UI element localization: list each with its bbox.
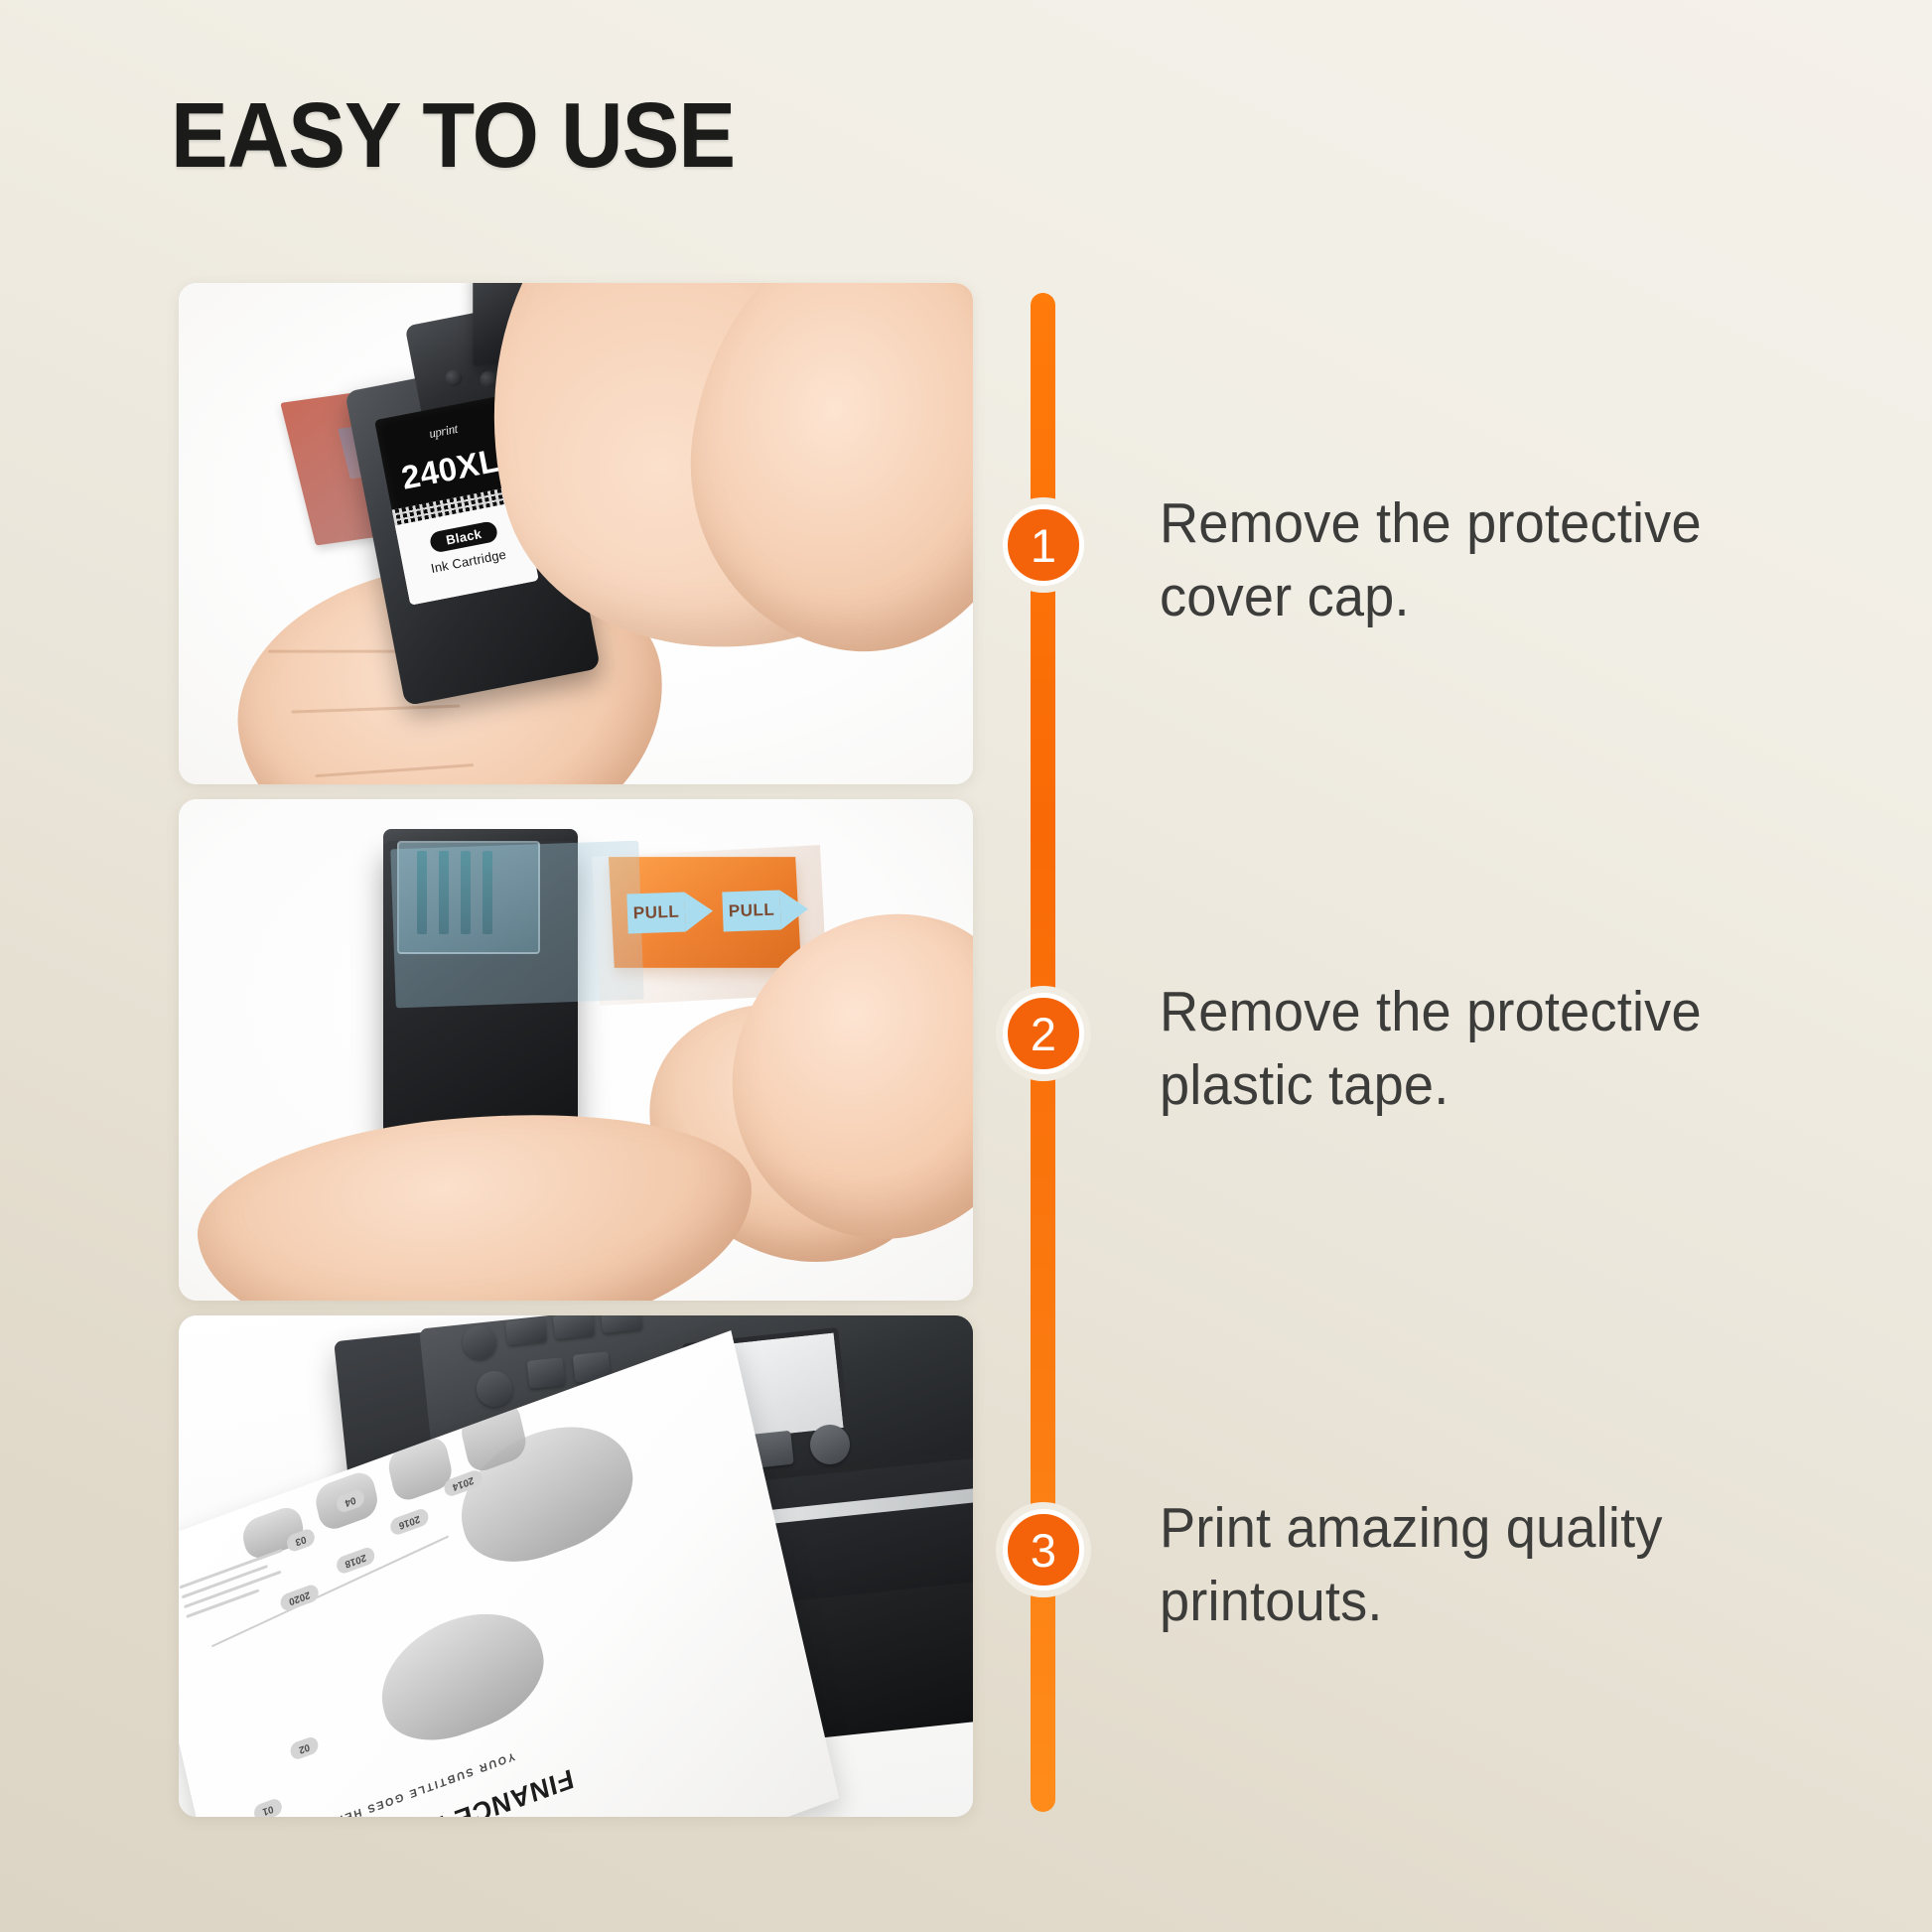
pull-label-2: PULL [722, 890, 780, 931]
pull-arrow-2: PULL [722, 890, 808, 932]
step-2-text: Remove the protective plastic tape. [1160, 975, 1744, 1122]
cartridge-cover-cap-photo: uprint 240XL Black Ink Cartridge [179, 283, 973, 784]
page-title: EASY TO USE [171, 89, 735, 182]
pull-arrowhead-1 [684, 892, 713, 932]
printed-chip-01: 01 [252, 1797, 283, 1817]
printer-key-ok [527, 1357, 566, 1389]
step-1-text: Remove the protective cover cap. [1160, 486, 1744, 633]
printer-output-photo: 2020 2018 2016 2014 01 02 03 04 YOUR SUB… [179, 1315, 973, 1817]
step-badge-1: 1 [1003, 504, 1084, 586]
printed-chip-02: 02 [289, 1735, 320, 1762]
step-3-photo-card: 2020 2018 2016 2014 01 02 03 04 YOUR SUB… [179, 1315, 973, 1817]
piggy-bank-graphic-2 [370, 1592, 554, 1759]
printer-key-up [553, 1315, 595, 1339]
step-3-text: Print amazing quality printouts. [1160, 1491, 1744, 1638]
infographic-page: EASY TO USE uprint 240XL [0, 0, 1932, 1932]
printed-chip-2020: 2020 [279, 1583, 321, 1612]
pull-arrowhead-2 [779, 890, 808, 930]
printer-key-left [505, 1317, 547, 1345]
pull-arrow-1: PULL [626, 892, 713, 934]
step-badge-3: 3 [1003, 1509, 1084, 1590]
pull-label-1: PULL [626, 892, 685, 933]
printed-chip-2016: 2016 [388, 1507, 430, 1537]
cartridge-plastic-tape-photo: PULL PULL [179, 799, 973, 1301]
step-1-photo-card: uprint 240XL Black Ink Cartridge [179, 283, 973, 784]
step-badge-2: 2 [1003, 993, 1084, 1074]
step-2-photo-card: PULL PULL [179, 799, 973, 1301]
